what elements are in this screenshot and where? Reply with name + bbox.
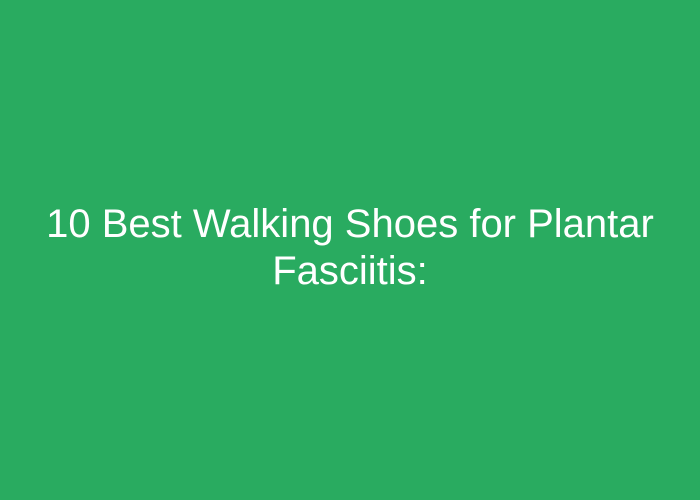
hero-card: 10 Best Walking Shoes for Plantar Fascii… — [0, 0, 700, 500]
page-title: 10 Best Walking Shoes for Plantar Fascii… — [0, 201, 700, 295]
